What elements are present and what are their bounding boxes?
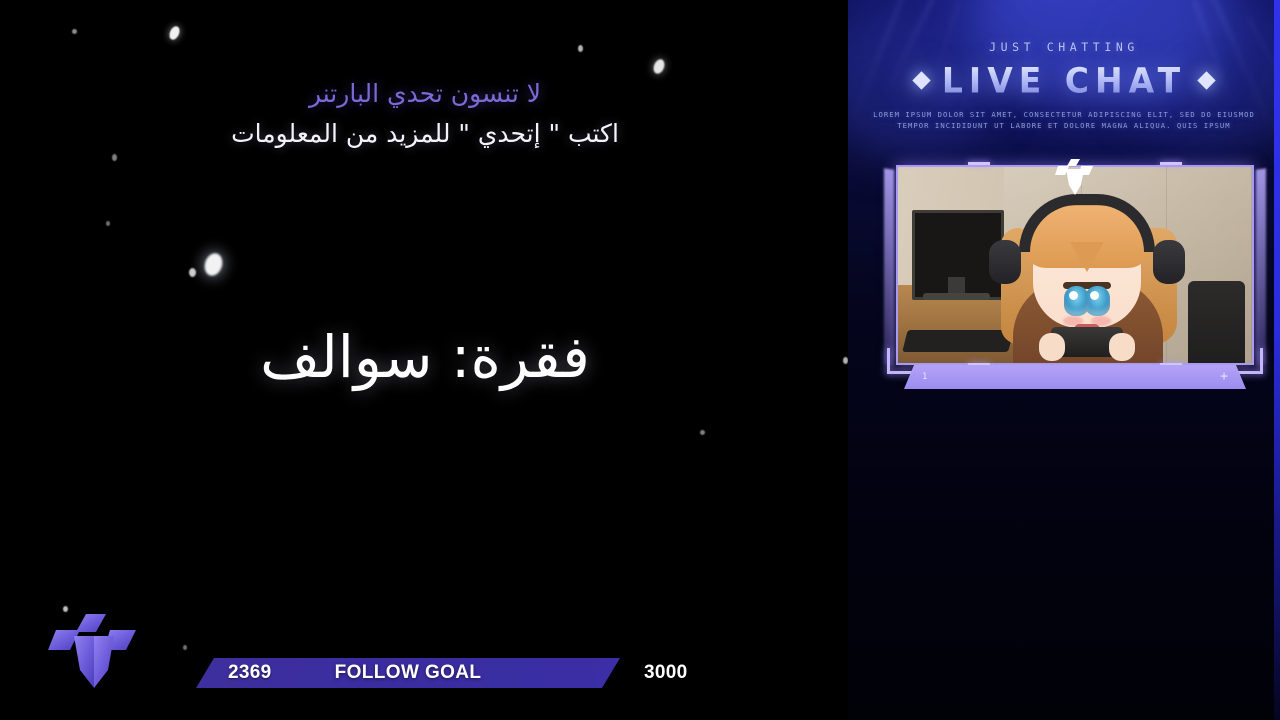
notice-text: لا تنسون تحدي البارتنر اكتب " إتحدي " لل… [0, 74, 850, 154]
particle [168, 25, 182, 41]
main-scene: لا تنسون تحدي البارتنر اكتب " إتحدي " لل… [0, 0, 850, 720]
panel-subtitle-line-2: TEMPOR INCIDIDUNT UT LABORE ET DOLORE MA… [870, 120, 1258, 131]
particle [578, 45, 583, 52]
panel-kicker: JUST CHATTING [848, 40, 1280, 54]
panel-header: JUST CHATTING LIVE CHAT LOREM IPSUM DOLO… [848, 40, 1280, 131]
stream-overlay: لا تنسون تحدي البارتنر اكتب " إتحدي " لل… [0, 0, 1280, 720]
avatar-hand [1109, 333, 1135, 361]
notice-line-1: لا تنسون تحدي البارتنر [0, 74, 850, 114]
particle [652, 58, 667, 76]
particle [183, 645, 187, 650]
v-logo-icon [48, 604, 140, 688]
particle [202, 251, 225, 278]
headphone-cup [989, 240, 1021, 284]
particle [106, 221, 110, 226]
avatar [987, 188, 1187, 363]
frame-tick [968, 162, 990, 165]
webcam-bar-right-mark: + [1220, 369, 1228, 384]
monitor-base [923, 293, 990, 300]
chair [1188, 281, 1245, 363]
segment-title-text: فقرة: سوالف [260, 323, 590, 391]
notice-line-2: اكتب " إتحدي " للمزيد من المعلومات [0, 114, 850, 154]
panel-subtitle: LOREM IPSUM DOLOR SIT AMET, CONSECTETUR … [848, 109, 1280, 131]
webcam-feed [898, 167, 1252, 363]
follow-goal-current: 2369 [228, 662, 271, 684]
webcam-widget: 1 + [896, 165, 1254, 387]
webcam-wing-right [1256, 168, 1266, 365]
v-logo-icon [1055, 157, 1095, 195]
particle [72, 29, 77, 34]
panel-title: LIVE CHAT [942, 59, 1186, 100]
headphones-icon [1019, 194, 1155, 252]
particle [189, 268, 196, 277]
avatar-hands [1039, 325, 1135, 361]
segment-title: فقرة: سوالف [0, 318, 850, 396]
webcam-wing-left [884, 168, 894, 365]
headphone-cup [1153, 240, 1185, 284]
diamond-icon [1197, 71, 1215, 89]
follow-goal-target: 3000 [644, 662, 687, 684]
follow-goal-track: FOLLOW GOAL 2369 [196, 658, 620, 688]
particle [700, 430, 705, 435]
panel-title-row: LIVE CHAT [848, 60, 1280, 100]
v-logo [48, 604, 140, 688]
avatar-hand [1039, 333, 1065, 361]
panel-subtitle-line-1: LOREM IPSUM DOLOR SIT AMET, CONSECTETUR … [870, 109, 1258, 120]
avatar-eye [1064, 286, 1089, 316]
follow-goal: FOLLOW GOAL 2369 3000 [196, 658, 716, 688]
diamond-icon [912, 71, 930, 89]
webcam-bar-logo [1055, 157, 1095, 195]
frame-tick [1160, 162, 1182, 165]
particle [112, 154, 117, 161]
webcam-bottom-bar: 1 + [904, 365, 1246, 389]
webcam-bar-left-mark: 1 [922, 372, 927, 382]
